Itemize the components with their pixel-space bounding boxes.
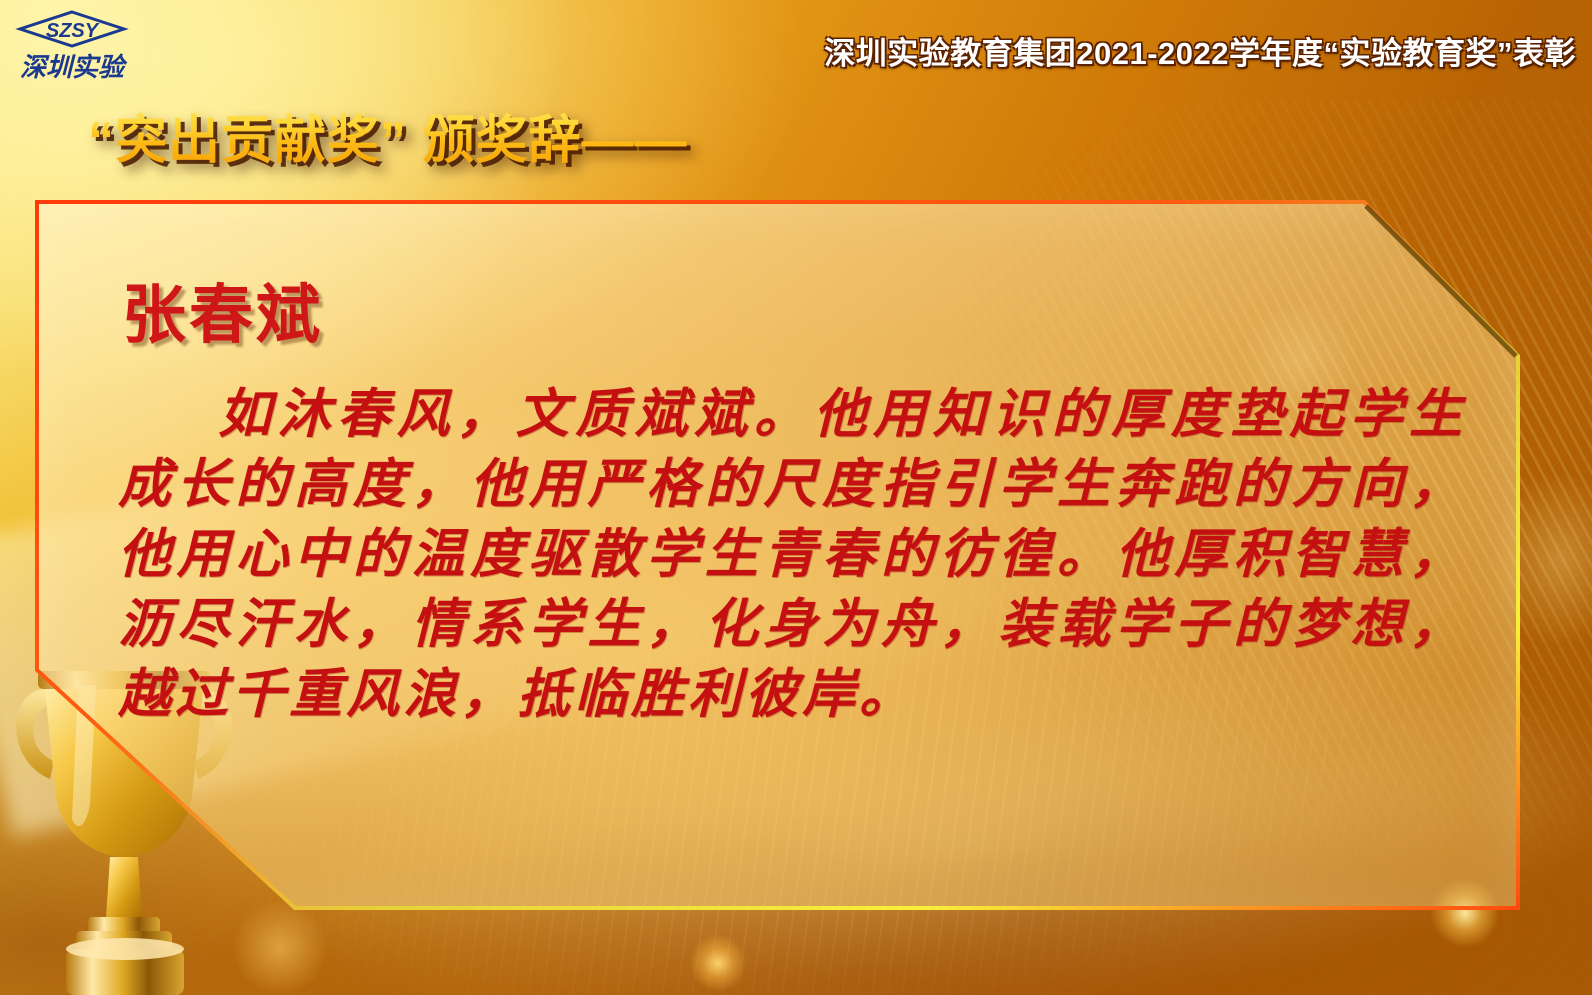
diamond-logo-icon: SZSY xyxy=(20,12,124,46)
presentation-slide: SZSY 深圳实验 深圳实验教育集团2021-2022学年度“实验教育奖”表彰 … xyxy=(0,0,1592,995)
header-title: 深圳实验教育集团2021-2022学年度“实验教育奖”表彰 xyxy=(824,28,1576,73)
school-logo: SZSY 深圳实验 xyxy=(14,6,130,86)
slide-title: “突出贡献奖” 颁奖辞—— xyxy=(88,98,687,173)
svg-text:SZSY: SZSY xyxy=(46,20,100,42)
bokeh-glow-1 xyxy=(690,935,746,991)
award-recipient-name: 张春斌 xyxy=(122,264,323,356)
citation-text: 如沐春风，文质斌斌。他用知识的厚度垫起学生成长的高度，他用严格的尺度指引学生奔跑… xyxy=(118,380,1466,730)
logo-subtext: 深圳实验 xyxy=(20,53,128,82)
